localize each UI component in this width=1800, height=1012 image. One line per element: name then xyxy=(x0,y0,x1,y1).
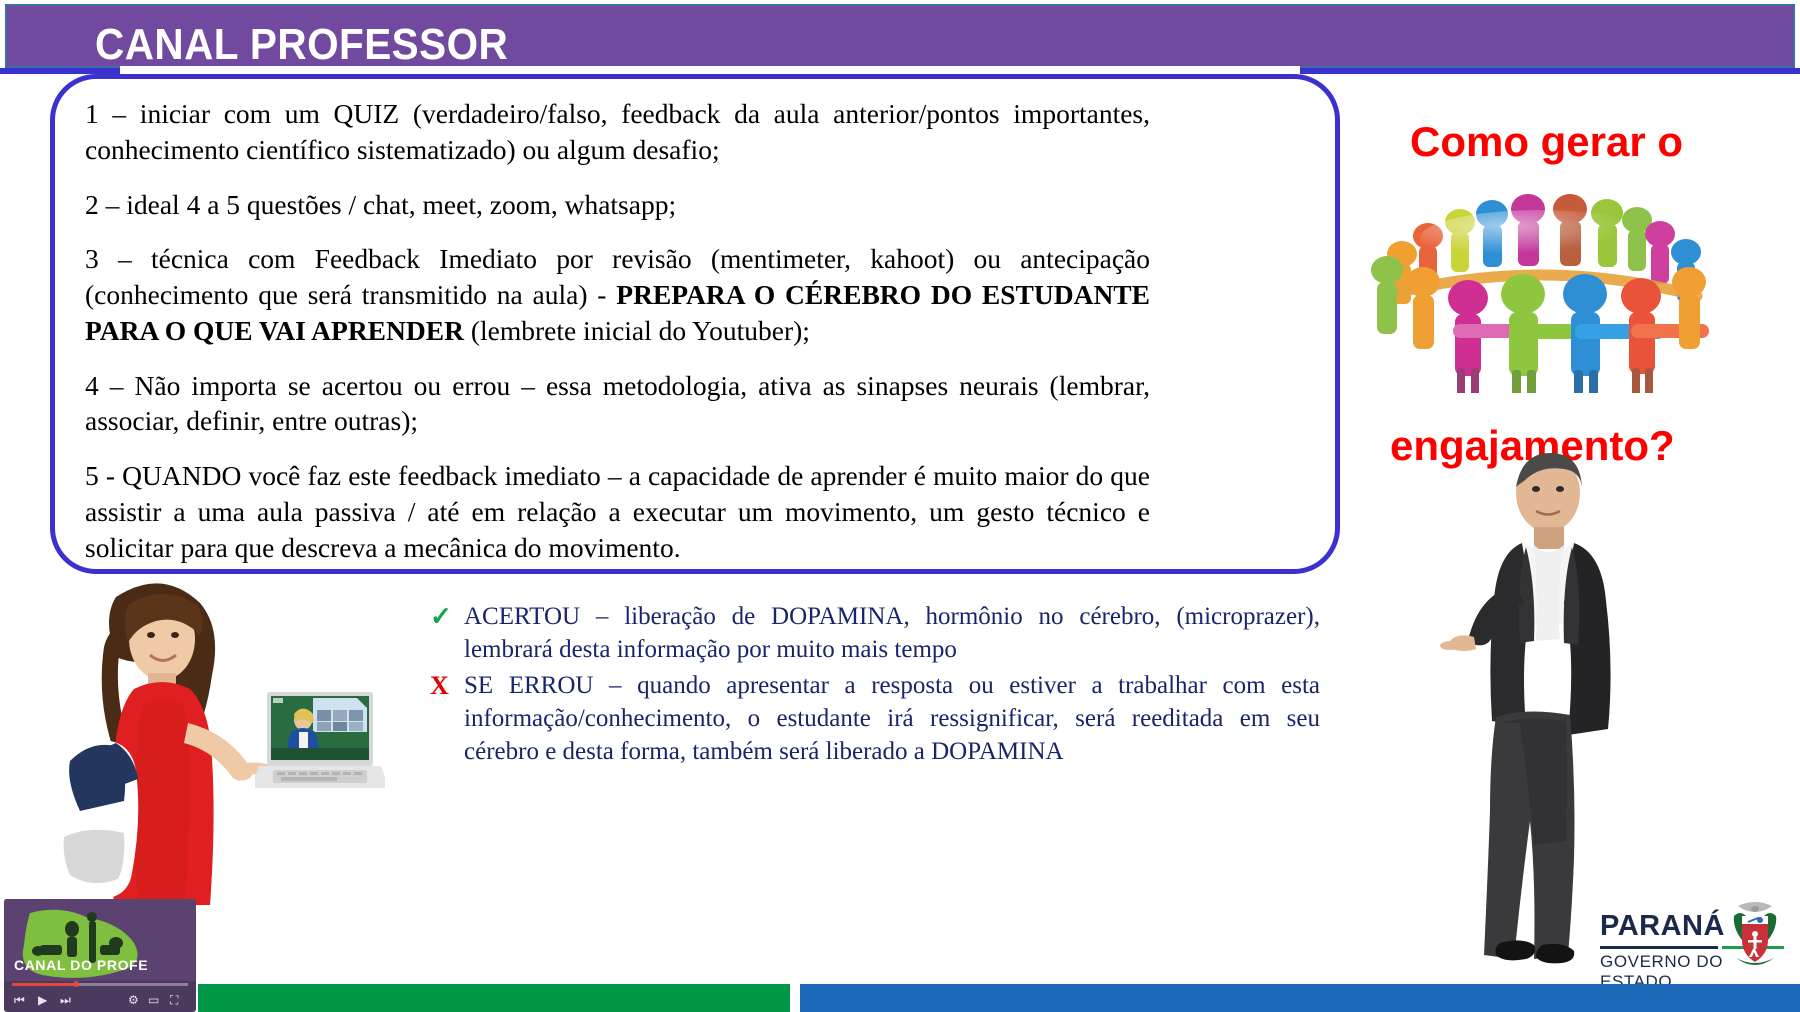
paragraph-4: 4 – Não importa se acertou ou errou – es… xyxy=(85,368,1150,440)
paragraph-3-tail: (lembrete inicial do Youtuber); xyxy=(464,315,810,346)
bullet-text-se-errou: SE ERROU – quando apresentar a resposta … xyxy=(464,669,1320,769)
play-icon[interactable]: ▶ xyxy=(38,989,47,1011)
page-title: CANAL PROFESSOR xyxy=(95,20,508,70)
video-progress-handle[interactable] xyxy=(73,981,79,987)
fullscreen-icon[interactable]: ⛶ xyxy=(170,989,178,1011)
theater-icon[interactable]: ▭ xyxy=(148,989,159,1011)
paragraph-2: 2 – ideal 4 a 5 questões / chat, meet, z… xyxy=(85,187,1150,223)
student-photo xyxy=(30,565,280,905)
footer-bar-green xyxy=(198,984,790,1012)
body-text-block: 1 – iniciar com um QUIZ (verdadeiro/fals… xyxy=(85,96,1150,565)
paragraph-5: 5 - QUANDO você faz este feedback imedia… xyxy=(85,458,1150,565)
video-progress-bar[interactable] xyxy=(12,983,188,986)
people-circle-illustration xyxy=(1345,178,1735,393)
video-title-overlay: CANAL DO PROFE xyxy=(14,957,148,973)
parana-government-logo: PARANÁ GOVERNO DO ESTADO xyxy=(1600,900,1790,995)
video-progress-fill xyxy=(12,983,79,986)
parana-logo-name: PARANÁ xyxy=(1600,910,1725,943)
previous-icon[interactable]: ⏮ xyxy=(14,989,25,1011)
next-icon[interactable]: ⏭ xyxy=(60,989,71,1011)
parana-logo-rule-navy xyxy=(1600,946,1718,949)
bullet-item-se-errou: X SE ERROU – quando apresentar a respost… xyxy=(430,669,1320,769)
paragraph-3: 3 – técnica com Feedback Imediato por re… xyxy=(85,241,1150,348)
footer-bar-blue xyxy=(800,984,1800,1012)
heading-como-gerar: Como gerar o xyxy=(1410,118,1683,166)
parana-coat-of-arms-icon xyxy=(1724,900,1786,972)
video-controls: ⏮ ▶ ⏭ ⚙ ▭ ⛶ xyxy=(4,989,196,1011)
presenter-man-photo xyxy=(1430,445,1620,965)
slide-canvas: CANAL PROFESSOR 1 – iniciar com um QUIZ … xyxy=(0,0,1800,1012)
x-mark-icon: X xyxy=(430,669,464,704)
bullet-item-acertou: ✓ ACERTOU – liberação de DOPAMINA, hormô… xyxy=(430,600,1320,667)
video-player-widget[interactable]: CANAL DO PROFE ⏮ ▶ ⏭ ⚙ ▭ ⛶ xyxy=(4,899,196,1012)
check-mark-icon: ✓ xyxy=(430,600,464,635)
gear-icon[interactable]: ⚙ xyxy=(128,989,139,1011)
paragraph-1: 1 – iniciar com um QUIZ (verdadeiro/fals… xyxy=(85,96,1150,168)
bullet-text-acertou: ACERTOU – liberação de DOPAMINA, hormôni… xyxy=(464,600,1320,667)
bullet-list: ✓ ACERTOU – liberação de DOPAMINA, hormô… xyxy=(430,600,1320,770)
laptop-with-lesson-video xyxy=(255,690,385,800)
header-bar: CANAL PROFESSOR xyxy=(5,4,1795,68)
